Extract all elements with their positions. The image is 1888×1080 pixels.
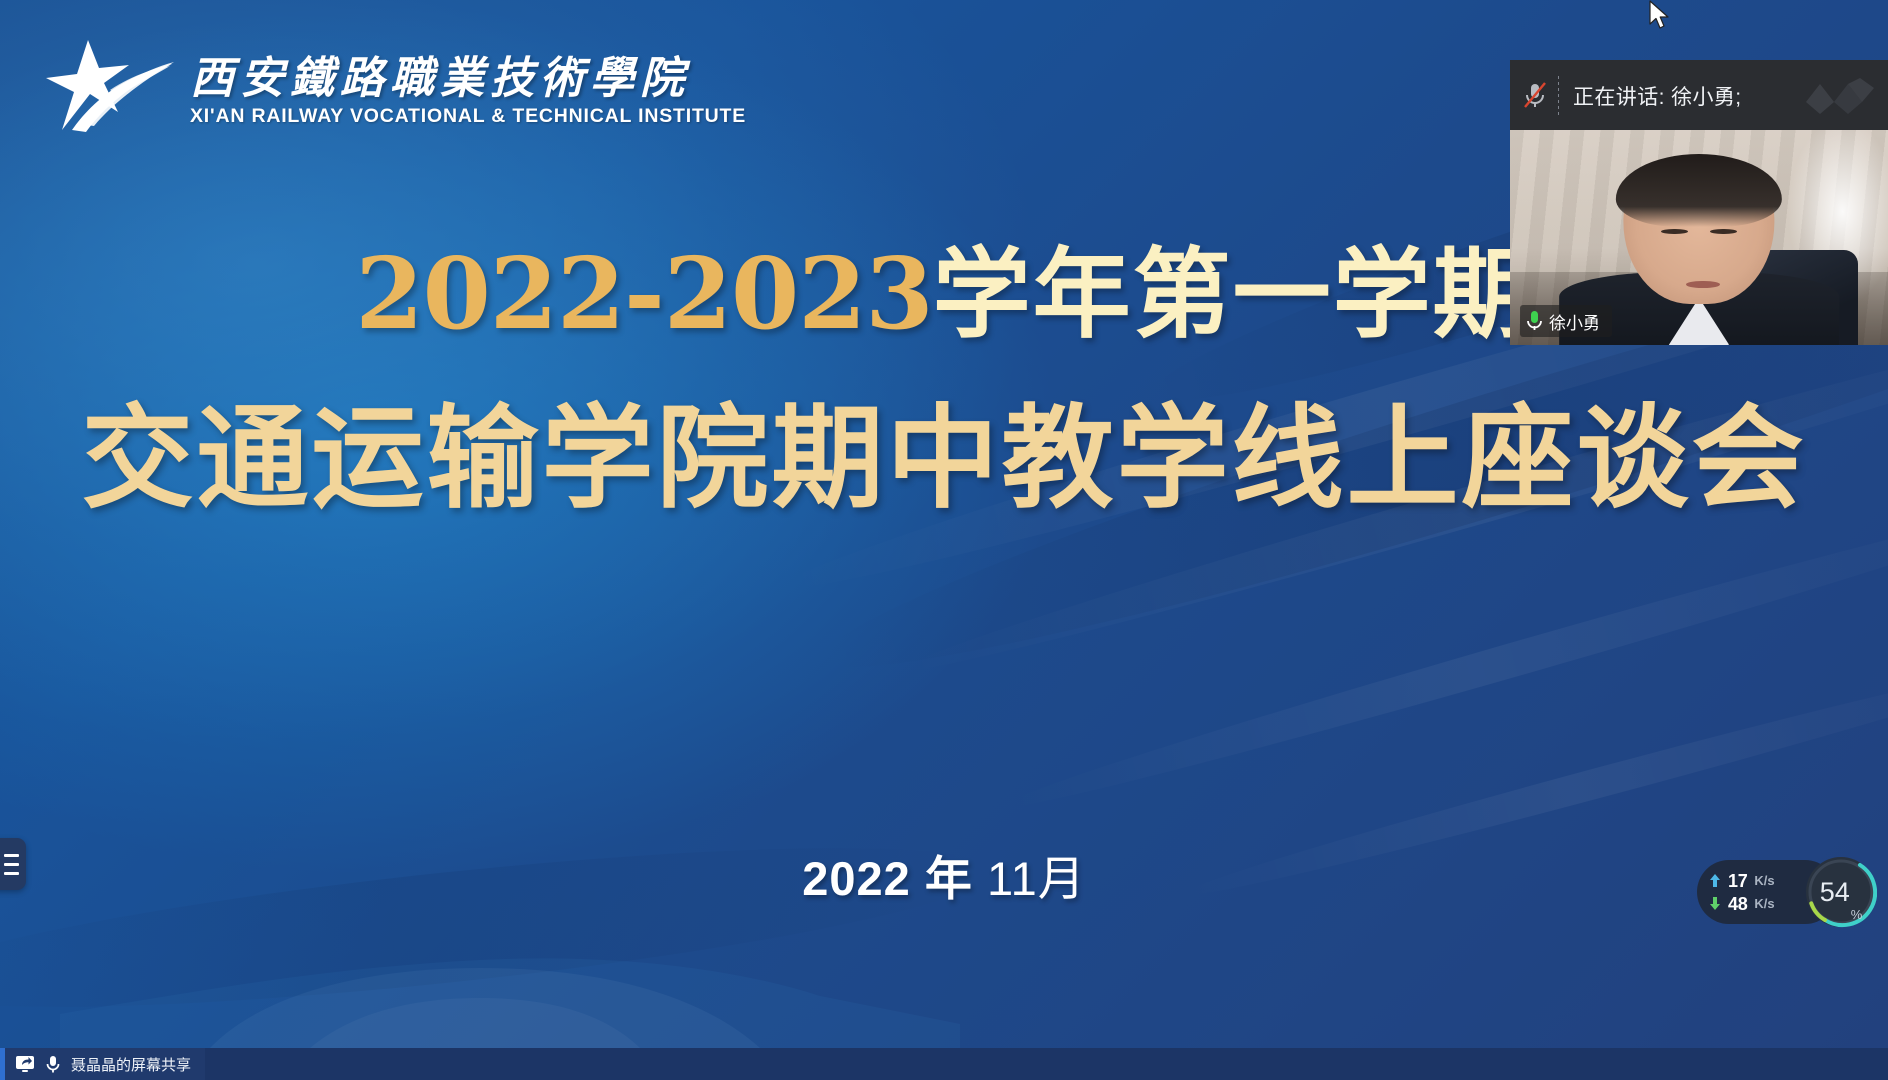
participant-name: 徐小勇 — [1549, 309, 1600, 334]
status-bar-divider — [1558, 76, 1559, 116]
upload-arrow-icon — [1709, 874, 1721, 887]
cpu-usage-unit: % — [1851, 907, 1863, 928]
video-status-bar[interactable]: 正在讲话: 徐小勇; — [1510, 60, 1888, 132]
screen-share-icon[interactable] — [15, 1054, 35, 1074]
background-ribbon-4 — [995, 487, 1888, 823]
title-years: 2022-2023 — [355, 237, 932, 352]
person-eye-left — [1661, 229, 1687, 234]
mic-active-icon — [1526, 310, 1543, 332]
date-month: 11月 — [987, 852, 1086, 905]
cpu-usage-value: 54 — [1820, 879, 1850, 906]
download-speed-value: 48 — [1728, 895, 1747, 913]
date-year-unit: 年 — [925, 852, 973, 905]
participant-name-chip: 徐小勇 — [1520, 305, 1612, 337]
person-mouth — [1686, 281, 1720, 289]
network-cpu-widget[interactable]: 17 K/s 48 K/s 54 % — [1697, 856, 1877, 928]
screen-root: 西安鐵路職業技術學院 XI'AN RAILWAY VOCATIONAL & TE… — [0, 0, 1888, 1080]
download-speed-unit: K/s — [1754, 897, 1774, 910]
mic-muted-icon[interactable] — [1522, 81, 1548, 111]
handle-line-2 — [4, 863, 19, 866]
person-eye-right — [1710, 229, 1736, 234]
logo-name-en: XI'AN RAILWAY VOCATIONAL & TECHNICAL INS… — [190, 105, 746, 128]
handle-line-1 — [4, 854, 19, 857]
collapsed-panel-handle[interactable] — [0, 838, 26, 890]
handle-line-3 — [4, 872, 19, 875]
logo-text-block: 西安鐵路職業技術學院 XI'AN RAILWAY VOCATIONAL & TE… — [190, 56, 746, 134]
person-hair — [1616, 154, 1782, 227]
participant-video-tile[interactable]: 徐小勇 — [1510, 130, 1888, 345]
institute-logo: 西安鐵路職業技術學院 XI'AN RAILWAY VOCATIONAL & TE… — [44, 38, 746, 134]
taskbar: 聂晶晶的屏幕共享 — [0, 1048, 1888, 1080]
title-line-2: 交通运输学院期中教学线上座谈会 — [0, 396, 1888, 521]
download-arrow-icon — [1709, 897, 1721, 910]
taskbar-item-label: 聂晶晶的屏幕共享 — [71, 1054, 191, 1075]
slide-date: 2022 年 11月 — [0, 840, 1888, 909]
speaking-status-text: 正在讲话: 徐小勇; — [1573, 81, 1742, 111]
screen-share-taskbar-item[interactable]: 聂晶晶的屏幕共享 — [5, 1048, 205, 1080]
microphone-icon[interactable] — [43, 1054, 63, 1074]
upload-speed-unit: K/s — [1754, 874, 1774, 887]
app-brand-mark-icon — [1804, 76, 1876, 116]
title-term: 学年第一学期 — [933, 239, 1533, 349]
logo-name-cn: 西安鐵路職業技術學院 — [190, 56, 746, 102]
star-swoosh-logo-icon — [44, 38, 174, 134]
upload-speed-value: 17 — [1728, 872, 1747, 890]
cpu-usage-label: 54 % — [1805, 856, 1877, 928]
date-year: 2022 — [802, 852, 911, 905]
